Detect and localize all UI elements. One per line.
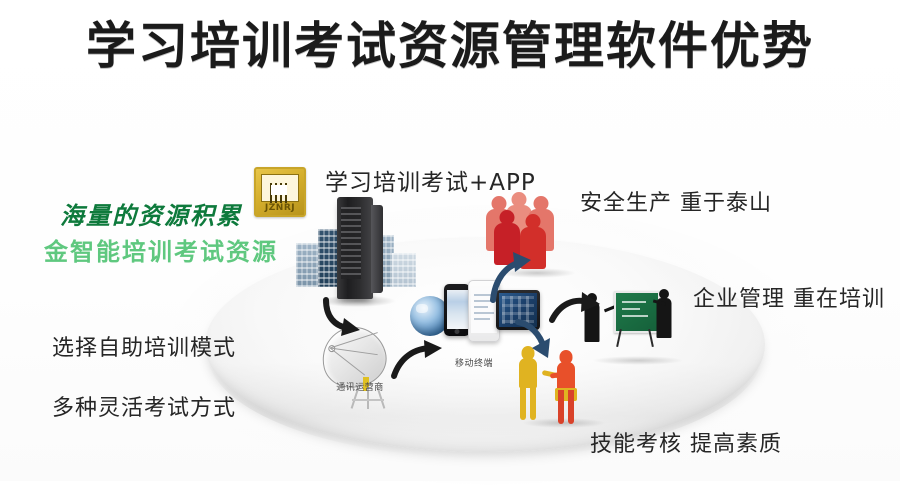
logo-white-block [271, 185, 287, 195]
whiteboard-panel [614, 291, 660, 333]
poster-canvas: 学习培训考试资源管理软件优势 JZNRJ [0, 0, 900, 481]
whiteboard-line [622, 315, 648, 317]
arrow-server-to-satellite [318, 296, 370, 340]
server-side-panel [371, 205, 383, 293]
partner-leg [558, 390, 564, 424]
callout-top-right: 安全生产 重于泰山 [580, 185, 772, 217]
phone-screen [447, 290, 468, 329]
tripod-crossbar [352, 399, 384, 401]
callout-resource-subline: 金智能培训考试资源 [44, 232, 278, 267]
screen-line [474, 318, 490, 320]
server-tower-icon [337, 197, 373, 299]
arrow-devices-to-crowd [487, 252, 535, 304]
screen-line [474, 312, 494, 314]
smartphone-black-icon [444, 284, 470, 336]
logo-inner-panel [261, 174, 299, 202]
arrow-satellite-to-devices [390, 340, 448, 382]
logo-badge-text: JZNRJ [256, 203, 304, 213]
brand-logo-badge: JZNRJ [254, 167, 306, 217]
partner-legs [558, 390, 574, 424]
screen-line [474, 306, 488, 308]
callout-resource-headline: 海量的资源积累 [60, 196, 242, 231]
partner-leg [568, 390, 574, 424]
partner-torso [519, 358, 537, 388]
partner-leg [530, 386, 536, 420]
arrow-devices-to-handshake [512, 318, 560, 360]
whiteboard-line [622, 308, 640, 310]
page-title: 学习培训考试资源管理软件优势 [0, 6, 900, 78]
callout-bottom-left: 多种灵活考试方式 [52, 390, 236, 422]
callout-mid-left: 选择自助培训模式 [52, 330, 236, 362]
callout-top-center: 学习培训考试+APP [325, 163, 536, 197]
phone-home-button [455, 329, 460, 334]
callout-bottom-right: 技能考核 提高素质 [590, 426, 782, 458]
partner-legs [520, 386, 536, 420]
partner-leg [520, 386, 526, 420]
callout-mid-right: 企业管理 重在培训 [693, 281, 885, 313]
whiteboard-line [622, 301, 646, 303]
